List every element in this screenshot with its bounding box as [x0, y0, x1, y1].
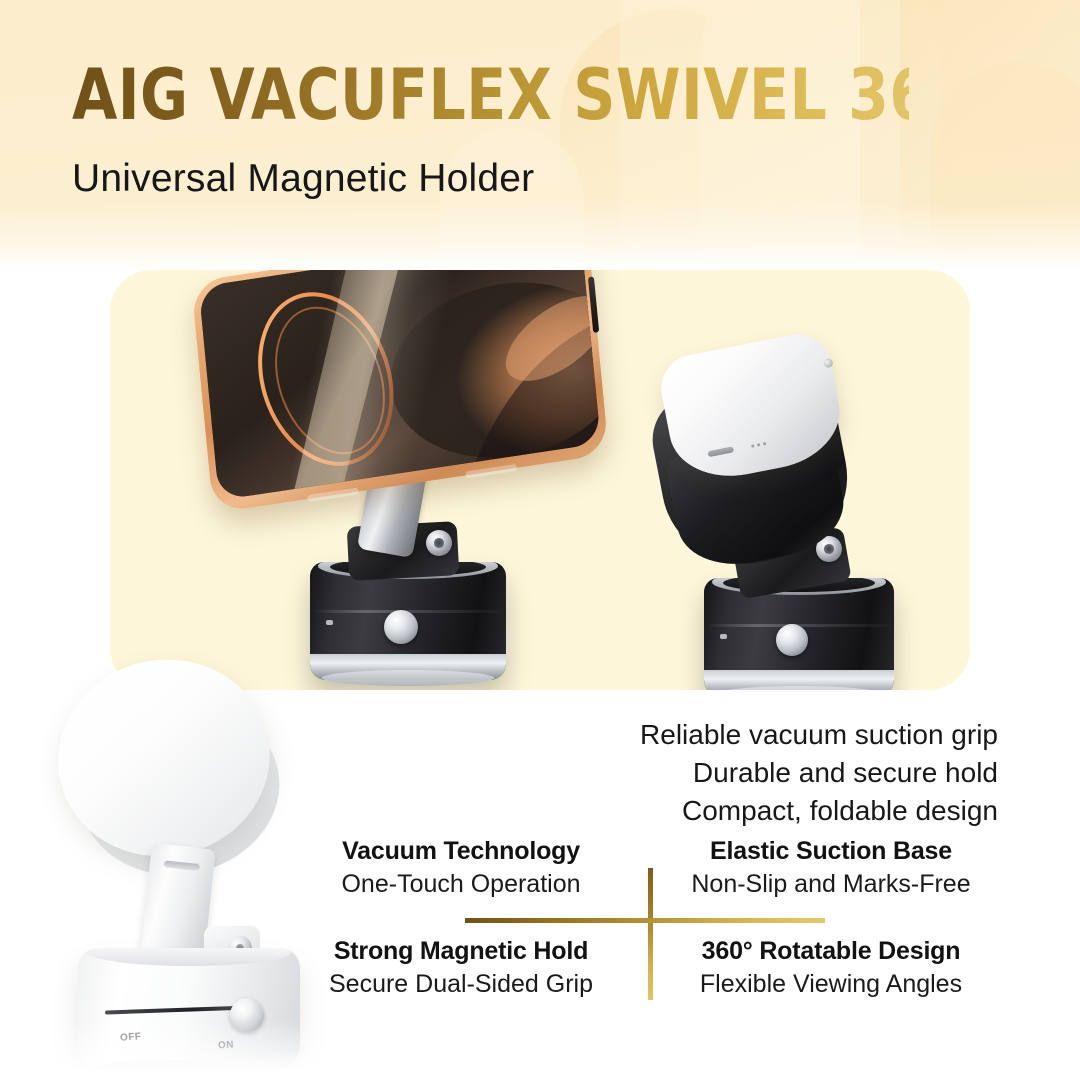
grid-divider-horizontal	[465, 918, 825, 923]
title-block: AIG VACUFLEX SWIVEL 360 Universal Magnet…	[72, 62, 972, 201]
page-title: AIG VACUFLEX SWIVEL 360	[72, 62, 909, 129]
benefit-line: Compact, foldable design	[578, 792, 998, 830]
benefit-line: Durable and secure hold	[578, 754, 998, 792]
feature-subtitle: One-Touch Operation	[296, 869, 626, 900]
bottom-fade	[0, 1020, 1080, 1080]
phone-screen	[199, 270, 601, 500]
smartphone	[191, 270, 609, 513]
feature-cell-elastic-suction-base: Elastic Suction Base Non-Slip and Marks-…	[666, 836, 996, 899]
feature-subtitle: Flexible Viewing Angles	[666, 969, 996, 1000]
charge-port-icon	[707, 446, 734, 457]
smartphone-group	[200, 270, 620, 582]
power-slider-track	[105, 1005, 252, 1014]
feature-cell-360-rotatable-design: 360° Rotatable Design Flexible Viewing A…	[666, 936, 996, 999]
wallpaper-icon	[199, 270, 601, 500]
product-phone-holder	[230, 270, 610, 682]
feature-title: 360° Rotatable Design	[666, 936, 996, 967]
feature-cell-strong-magnetic-hold: Strong Magnetic Hold Secure Dual-Sided G…	[296, 936, 626, 999]
poster-canvas: AIG VACUFLEX SWIVEL 360 Universal Magnet…	[0, 0, 1080, 1080]
feature-subtitle: Non-Slip and Marks-Free	[666, 869, 996, 900]
base-knob	[384, 610, 418, 644]
benefits-list: Reliable vacuum suction grip Durable and…	[578, 716, 998, 830]
feature-subtitle: Secure Dual-Sided Grip	[296, 969, 626, 1000]
benefit-line: Reliable vacuum suction grip	[578, 716, 998, 754]
product-earbuds-holder	[630, 330, 960, 690]
page-subtitle: Universal Magnetic Holder	[72, 157, 972, 201]
feature-title: Elastic Suction Base	[666, 836, 996, 867]
feature-title: Vacuum Technology	[296, 836, 626, 867]
grid-divider-vertical	[648, 868, 653, 1000]
base-knob-2	[776, 624, 808, 656]
feature-title: Strong Magnetic Hold	[296, 936, 626, 967]
hero-photo-panel	[110, 270, 970, 690]
feature-cell-vacuum-technology: Vacuum Technology One-Touch Operation	[296, 836, 626, 899]
header-fade	[0, 202, 1080, 272]
feature-grid: Vacuum Technology One-Touch Operation El…	[296, 836, 996, 1012]
holder-base-black-2	[704, 578, 894, 690]
